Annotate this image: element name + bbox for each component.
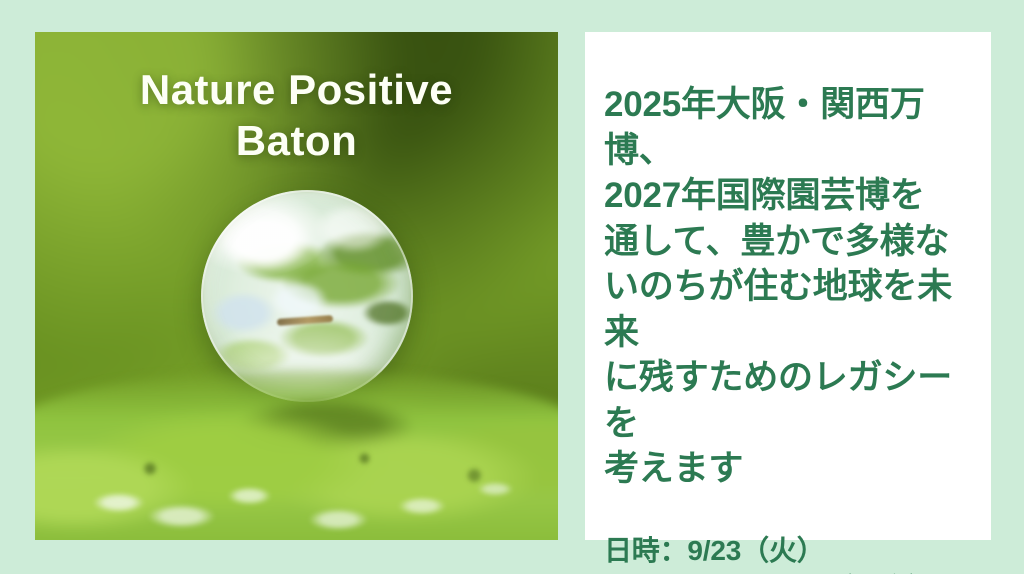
- info-card-body: 2025年大阪・関西万博、 2027年国際園芸博を 通して、豊かで多様な いのち…: [604, 82, 979, 574]
- moss-leaf-specks: [35, 370, 558, 540]
- photo-card: Nature Positive Baton: [35, 32, 558, 540]
- event-date: 日時：9/23（火）: [604, 532, 979, 570]
- event-description: 2025年大阪・関西万博、 2027年国際園芸博を 通して、豊かで多様な いのち…: [604, 82, 979, 492]
- event-time: 14:00〜18:15（予定）: [604, 570, 979, 574]
- event-details: 日時：9/23（火） 14:00〜18:15（予定） 企画：三菱総合研究所: [604, 532, 979, 574]
- photo-title: Nature Positive Baton: [35, 64, 558, 166]
- info-card: 2025年大阪・関西万博、 2027年国際園芸博を 通して、豊かで多様な いのち…: [585, 32, 991, 540]
